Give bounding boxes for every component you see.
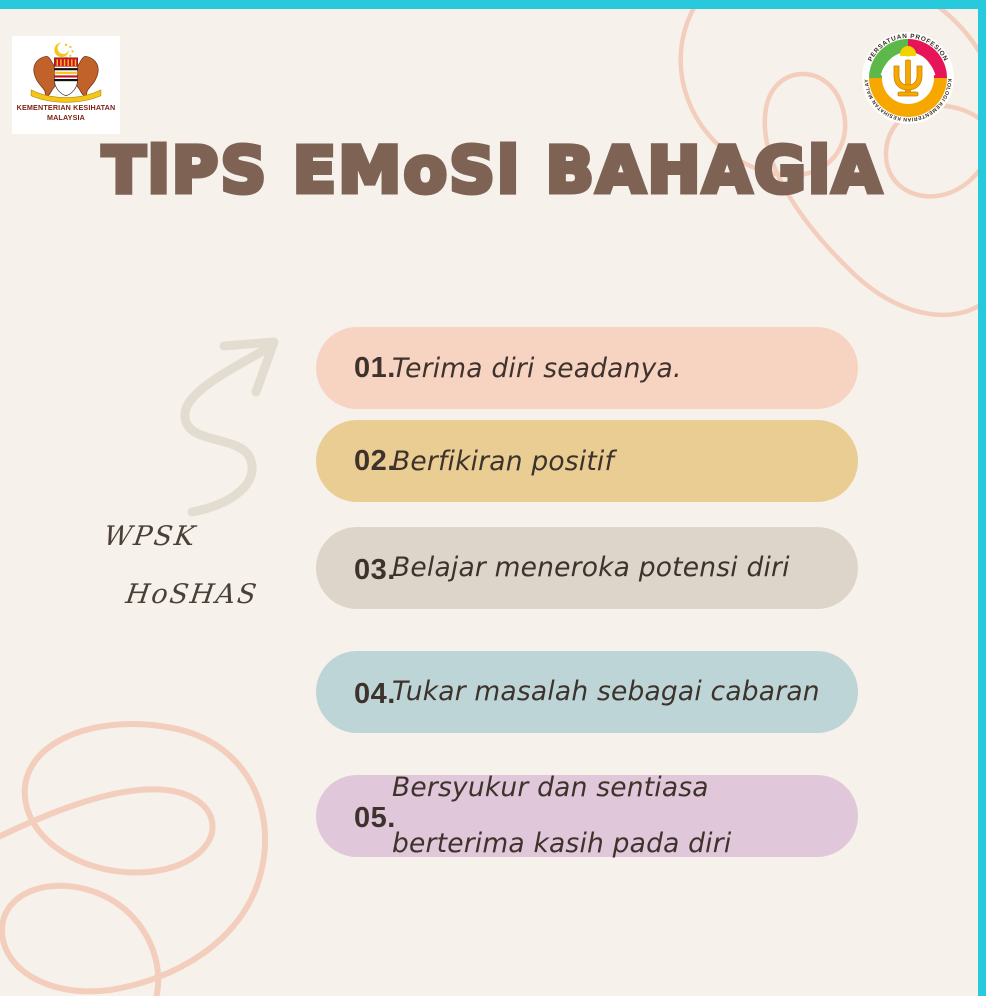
top-accent-border [0, 0, 986, 9]
handwritten-signature: WPSK HoSHAS [104, 508, 258, 624]
handwritten-line-wpsk: WPSK [100, 508, 262, 566]
tip-text-05: Bersyukur dan sentiasa berterima kasih p… [392, 760, 858, 872]
ministry-logo-line2: MALAYSIA [47, 113, 85, 123]
tip-item-01: 01. Terima diri seadanya. [316, 327, 858, 409]
association-logo: PERSATUAN PROFESION PSIKOLOGI KEMENTERIA… [858, 28, 958, 128]
tip-item-02: 02. Berfikiran positif [316, 420, 858, 502]
tip-number-04: 04. [316, 674, 392, 711]
tip-text-02: Berfikiran positif [392, 435, 858, 488]
tip-number-03: 03. [316, 550, 392, 587]
tip-item-04: 04. Tukar masalah sebagai cabaran [316, 637, 858, 747]
page-title: TiPS EMoSi BAHAGiA [0, 134, 986, 207]
handwritten-line-hoshas: HoSHAS [122, 566, 262, 624]
tip-text-04: Tukar masalah sebagai cabaran [392, 664, 858, 720]
tip-number-02: 02. [316, 445, 392, 478]
page-title-text: TiPS EMoSi BAHAGiA [102, 134, 883, 207]
tip-text-01: Terima diri seadanya. [392, 342, 858, 395]
squiggle-decoration-bottom-left [0, 680, 320, 996]
tip-number-05: 05. [316, 798, 392, 835]
right-accent-border [978, 0, 986, 996]
tip-text-03: Belajar meneroka potensi diri [392, 540, 858, 596]
tip-item-05: 05. Bersyukur dan sentiasa berterima kas… [316, 761, 858, 871]
malaysia-coat-of-arms-icon [22, 39, 110, 103]
ministry-logo: KEMENTERIAN KESIHATAN MALAYSIA [12, 36, 120, 134]
ministry-logo-line1: KEMENTERIAN KESIHATAN [17, 103, 116, 113]
poster-canvas: KEMENTERIAN KESIHATAN MALAYSIA PERSATUAN… [0, 0, 986, 996]
tips-list: 01. Terima diri seadanya. 02. Berfikiran… [316, 327, 858, 885]
tip-item-03: 03. Belajar meneroka potensi diri [316, 513, 858, 623]
tip-number-01: 01. [316, 352, 392, 385]
curved-arrow-icon [178, 322, 298, 522]
